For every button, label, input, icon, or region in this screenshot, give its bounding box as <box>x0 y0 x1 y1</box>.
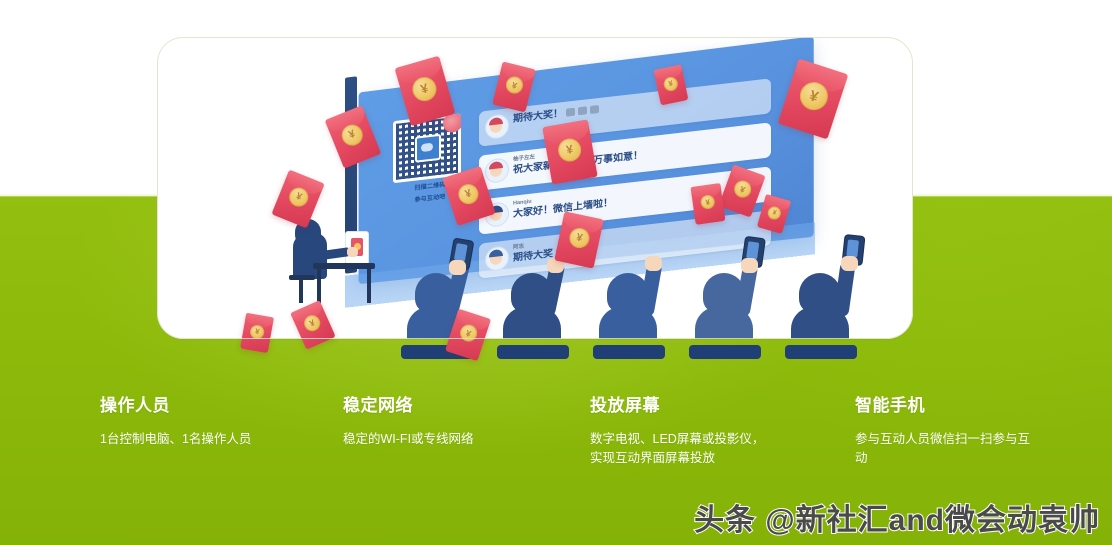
feature-title: 投放屏幕 <box>590 396 770 416</box>
operator-figure <box>285 217 381 315</box>
coin-icon: ¥ <box>504 75 525 96</box>
qr-center-logo-icon <box>415 134 441 163</box>
coin-icon: ¥ <box>286 185 311 210</box>
coin-icon: ¥ <box>302 313 323 334</box>
coin-icon: ¥ <box>568 226 592 250</box>
audience-seat <box>593 345 665 359</box>
qr-decorative-badge-icon <box>443 113 461 133</box>
illustration-stage-below-card: ¥ ¥ ¥ <box>157 339 913 401</box>
feature-column-screen: 投放屏幕 数字电视、LED屏幕或投影仪，实现互动界面屏幕投放 <box>590 396 770 468</box>
audience-shoulders <box>599 307 657 339</box>
feature-body: 1台控制电脑、1名操作人员 <box>100 430 285 449</box>
feature-title: 智能手机 <box>855 396 1035 416</box>
feature-column-operator: 操作人员 1台控制电脑、1名操作人员 <box>100 396 285 449</box>
feature-columns: 操作人员 1台控制电脑、1名操作人员 稳定网络 稳定的WI-FI或专线网络 投放… <box>0 396 1112 506</box>
coin-icon: ¥ <box>732 178 754 200</box>
coin-icon: ¥ <box>662 75 679 92</box>
red-envelope: ¥ <box>240 339 274 353</box>
illustration-layer-below: ¥ ¥ ¥ <box>157 339 913 399</box>
audience-hand <box>645 256 662 271</box>
audience-shoulders <box>695 307 753 339</box>
audience-shoulders <box>503 307 561 339</box>
emoji-icon <box>590 105 599 114</box>
emoji-icon <box>566 108 575 117</box>
red-envelope: ¥ <box>290 339 336 350</box>
coin-icon: ¥ <box>339 121 366 148</box>
audience-hand <box>841 256 858 271</box>
avatar <box>485 113 509 140</box>
coin-icon: ¥ <box>249 339 265 340</box>
operator-desk-leg-left <box>317 269 321 303</box>
red-envelope: ¥ <box>240 313 274 339</box>
illustration-layer-card: 扫描二维码 参与互动吧 期待大奖！ <box>157 37 913 339</box>
coin-icon: ¥ <box>766 205 782 221</box>
feature-column-network: 稳定网络 稳定的WI-FI或专线网络 <box>343 396 558 449</box>
audience-hand <box>741 258 758 273</box>
operator-desk <box>313 263 375 269</box>
emoji-icon <box>578 107 587 116</box>
avatar <box>485 157 509 184</box>
red-envelope: ¥ <box>542 119 597 184</box>
audience-shoulders <box>791 307 849 339</box>
coin-icon: ¥ <box>700 195 716 211</box>
feature-column-phone: 智能手机 参与互动人员微信扫一扫参与互动 <box>855 396 1035 468</box>
operator-hand <box>347 247 358 257</box>
coin-icon: ¥ <box>456 181 481 206</box>
page-root: 扫描二维码 参与互动吧 期待大奖！ <box>0 0 1112 545</box>
red-envelope: ¥ <box>691 183 726 225</box>
qr-code-image <box>393 113 461 183</box>
operator-desk-leg-right <box>367 269 371 303</box>
watermark-text: 头条 @新社汇and微会动袁帅 <box>694 495 1100 539</box>
feature-body: 数字电视、LED屏幕或投影仪，实现互动界面屏幕投放 <box>590 430 770 468</box>
coin-icon: ¥ <box>249 323 265 339</box>
audience-seat <box>497 345 569 359</box>
coin-icon: ¥ <box>556 136 583 163</box>
feature-title: 操作人员 <box>100 396 285 416</box>
feature-body: 稳定的WI-FI或专线网络 <box>343 430 558 449</box>
coin-icon: ¥ <box>796 79 831 114</box>
audience-hand <box>449 260 466 275</box>
operator-chair-leg <box>299 279 303 303</box>
feature-title: 稳定网络 <box>343 396 558 416</box>
audience-seat <box>689 345 761 359</box>
coin-icon: ¥ <box>458 323 479 339</box>
coin-icon: ¥ <box>409 74 439 104</box>
audience-seat <box>785 345 857 359</box>
coin-icon: ¥ <box>458 339 479 344</box>
illustration-stage-card: 扫描二维码 参与互动吧 期待大奖！ <box>157 37 913 339</box>
feature-body: 参与互动人员微信扫一扫参与互动 <box>855 430 1035 468</box>
